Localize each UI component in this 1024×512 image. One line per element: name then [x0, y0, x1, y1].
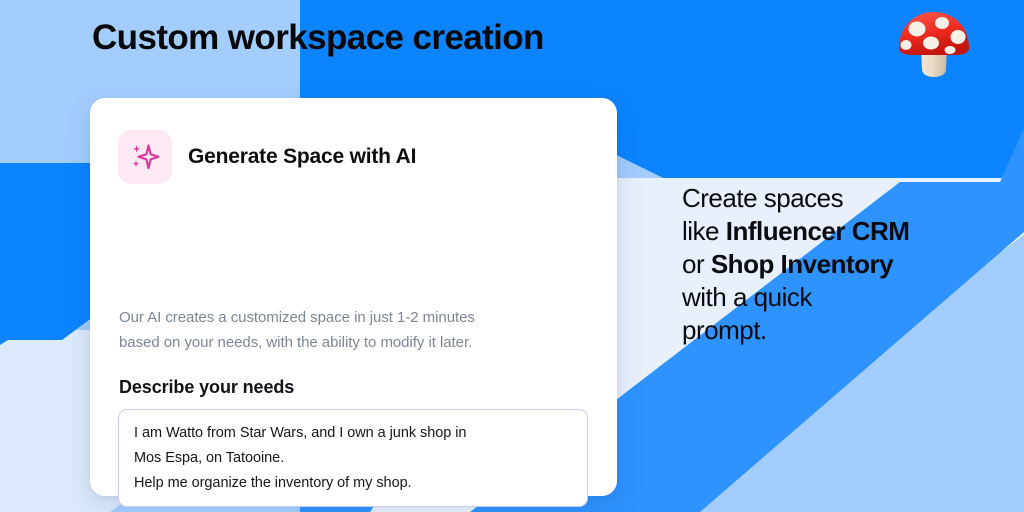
- promo-line-3-bold: Shop Inventory: [711, 249, 893, 279]
- page-title: Custom workspace creation: [92, 18, 544, 58]
- promo-line-4-text: with a quick: [682, 282, 812, 312]
- prompt-line-3: Help me organize the inventory of my sho…: [134, 471, 572, 496]
- card-description-line-1: Our AI creates a customized space in jus…: [119, 305, 589, 330]
- promo-line-5-text: prompt.: [682, 315, 767, 345]
- mushroom-emoji: [893, 3, 975, 85]
- prompt-line-2: Mos Espa, on Tatooine.: [134, 446, 572, 471]
- screenshot-root: Custom workspace creation: [0, 0, 1024, 512]
- promo-line-2: like Influencer CRM: [682, 215, 1012, 248]
- promo-line-1-text: Create spaces: [682, 183, 843, 213]
- describe-needs-input[interactable]: I am Watto from Star Wars, and I own a j…: [118, 409, 588, 507]
- sparkle-ai-icon: [118, 130, 172, 184]
- promo-line-4: with a quick: [682, 281, 1012, 314]
- card-title: Generate Space with AI: [188, 145, 416, 169]
- promo-line-3: or Shop Inventory: [682, 248, 1012, 281]
- promo-line-3-prefix: or: [682, 249, 711, 279]
- promo-copy: Create spaces like Influencer CRM or Sho…: [682, 182, 1012, 347]
- card-description: Our AI creates a customized space in jus…: [119, 305, 589, 355]
- generate-space-card: Generate Space with AI Our AI creates a …: [90, 98, 617, 496]
- promo-line-1: Create spaces: [682, 182, 1012, 215]
- prompt-line-1: I am Watto from Star Wars, and I own a j…: [134, 421, 572, 446]
- promo-line-5: prompt.: [682, 314, 1012, 347]
- promo-line-2-bold: Influencer CRM: [726, 216, 910, 246]
- promo-line-2-prefix: like: [682, 216, 726, 246]
- describe-needs-label: Describe your needs: [119, 377, 294, 398]
- card-description-line-2: based on your needs, with the ability to…: [119, 330, 589, 355]
- card-header: Generate Space with AI: [118, 130, 416, 184]
